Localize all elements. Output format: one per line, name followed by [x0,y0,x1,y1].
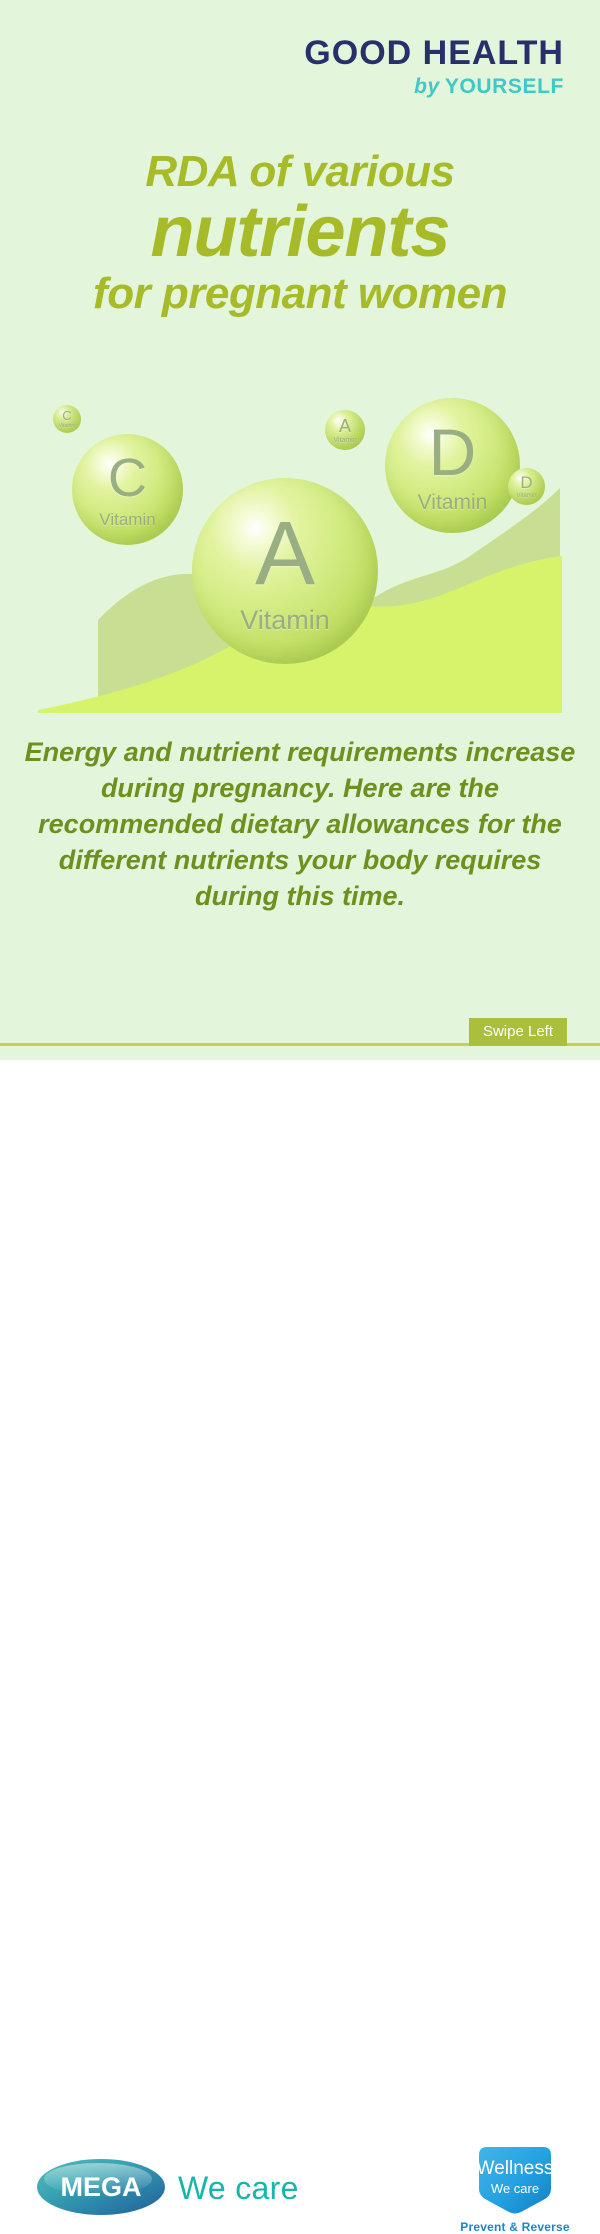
bubble-label: Vitamin [517,493,537,499]
vitamin-bubble-a-small: A Vitamin [325,410,365,450]
vitamin-bubble-d-small: D Vitamin [508,468,545,505]
bubble-letter: D [429,419,477,485]
wellness-shield-icon: Wellness We care [465,2145,565,2215]
vitamin-bubble-a: A Vitamin [192,478,378,664]
swipe-left-badge[interactable]: Swipe Left [469,1018,567,1046]
bubble-label: Vitamin [418,492,488,513]
bubble-letter: C [108,451,147,505]
bubble-label: Vitamin [59,424,76,429]
brand-by-word: by [414,75,440,98]
title-line-2: nutrients [0,196,600,268]
vitamin-illustration: C Vitamin C Vitamin A Vitamin D Vitamin … [38,380,562,713]
bubble-label: Vitamin [240,607,330,634]
bubble-letter: D [520,474,532,491]
bubble-letter: A [339,417,351,435]
wellness-text-block: Wellness We care [465,2159,565,2195]
mega-logo-icon: MEGA [36,2158,166,2216]
wellness-name: Wellness [465,2159,565,2178]
title-line-1: RDA of various [0,150,600,194]
page-title: RDA of various nutrients for pregnant wo… [0,150,600,316]
wellness-logo: Wellness We care Prevent & Reverse [460,2145,570,2234]
wellness-strapline: Prevent & Reverse [460,2220,570,2234]
bubble-letter: C [62,409,71,422]
vitamin-bubble-c-small: C Vitamin [53,405,81,433]
brand-name-secondary: byYOURSELF [304,76,564,97]
brand-logo: GOOD HEALTH byYOURSELF [304,36,564,97]
bubble-label: Vitamin [99,511,155,528]
svg-text:MEGA: MEGA [61,2172,142,2202]
bubble-label: Vitamin [333,437,356,444]
infographic-page: GOOD HEALTH byYOURSELF RDA of various nu… [0,0,600,1200]
vitamin-bubble-d: D Vitamin [385,398,520,533]
brand-name-primary: GOOD HEALTH [304,36,564,70]
wellness-subtitle: We care [465,2182,565,2195]
body-paragraph: Energy and nutrient requirements increas… [18,735,582,915]
footer-bar: MEGA We care Wellness We c [0,1060,600,1200]
bubble-letter: A [255,509,315,599]
vitamin-bubble-c: C Vitamin [72,434,183,545]
mega-tagline: We care [178,2170,299,2207]
title-line-3: for pregnant women [0,272,600,316]
brand-yourself-word: YOURSELF [445,75,564,98]
